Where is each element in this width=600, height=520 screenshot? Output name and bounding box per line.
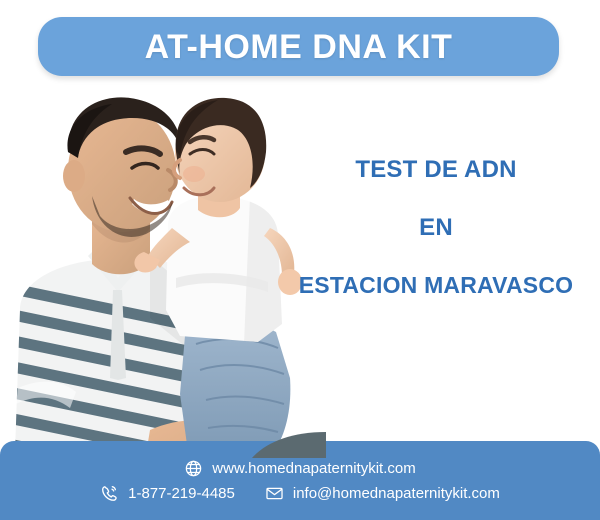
phone-contact[interactable]: 1-877-219-4485 (100, 484, 235, 503)
email-text: info@homednapaternitykit.com (293, 486, 500, 501)
footer-contact-bar: www.homednapaternitykit.com 1-877-219-44… (0, 441, 600, 520)
poster-canvas: AT-HOME DNA KIT (0, 0, 600, 520)
footer-contact-rows: www.homednapaternitykit.com 1-877-219-44… (0, 441, 600, 520)
headline-line-1: TEST DE ADN (286, 158, 586, 182)
headline-line-2: EN (286, 216, 586, 240)
website-text: www.homednapaternitykit.com (212, 461, 415, 476)
page-title: AT-HOME DNA KIT (145, 30, 453, 64)
email-contact[interactable]: info@homednapaternitykit.com (265, 484, 500, 503)
globe-icon (184, 459, 203, 478)
phone-text: 1-877-219-4485 (128, 486, 235, 501)
headline-block: TEST DE ADN EN ESTACION MARAVASCO (286, 158, 586, 297)
phone-icon (100, 484, 119, 503)
man-head (63, 97, 180, 237)
envelope-icon (265, 484, 284, 503)
footer-row-website: www.homednapaternitykit.com (184, 459, 415, 478)
header-banner: AT-HOME DNA KIT (38, 17, 559, 76)
website-contact[interactable]: www.homednapaternitykit.com (184, 459, 415, 478)
footer-row-phone-email: 1-877-219-4485 info@homednapaternitykit.… (100, 484, 500, 503)
headline-line-3: ESTACION MARAVASCO (286, 274, 586, 297)
